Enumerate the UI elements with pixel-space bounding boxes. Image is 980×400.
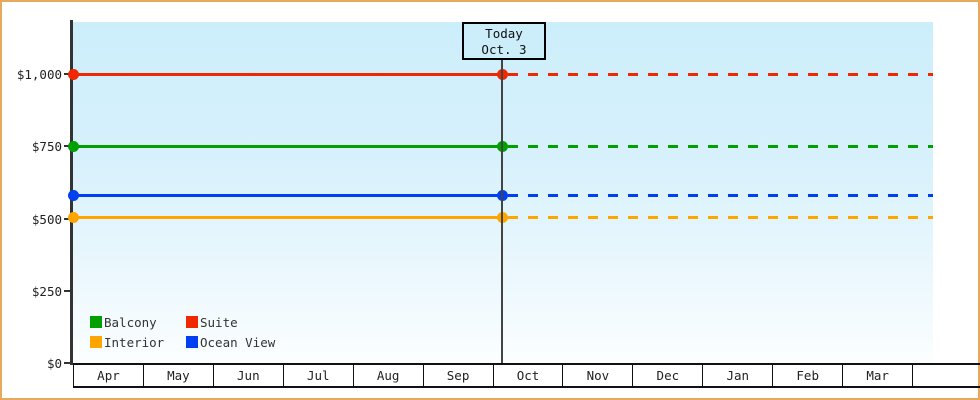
series-line-forecast [508,194,933,197]
x-axis-month-cell[interactable]: Jun [214,365,284,386]
legend-entry[interactable]: Balcony [90,315,186,330]
today-label: Today [464,26,544,42]
x-axis-month-cell-empty[interactable] [913,365,980,386]
series-start-dot[interactable] [68,190,79,201]
legend-label: Balcony [104,315,157,330]
legend-row: InteriorOcean View [90,332,275,352]
series-start-dot[interactable] [68,69,79,80]
legend-row: BalconySuite [90,312,275,332]
chart-legend: BalconySuiteInteriorOcean View [90,312,275,352]
legend-label: Ocean View [200,335,275,350]
legend-color-swatch-icon [90,336,102,348]
series-line-forecast [508,216,933,219]
legend-color-swatch-icon [186,336,198,348]
y-axis-label: $0 [0,356,62,371]
legend-label: Interior [104,335,164,350]
x-axis-month-cell[interactable]: May [144,365,214,386]
y-axis-tick [64,362,71,364]
y-axis-label: $250 [0,284,62,299]
series-line-forecast [508,145,933,148]
x-axis-month-cell[interactable]: Jan [703,365,773,386]
legend-entry[interactable]: Suite [186,315,238,330]
series-start-dot[interactable] [68,141,79,152]
x-axis-month-cell[interactable]: Feb [773,365,843,386]
y-axis-label-wrap: $500 [2,212,62,226]
x-axis-month-cell[interactable]: Aug [354,365,424,386]
y-axis-label-wrap: $0 [2,356,62,370]
y-axis-label: $750 [0,139,62,154]
x-axis-month-cell[interactable]: Nov [563,365,633,386]
x-axis-month-cell[interactable]: Mar [843,365,913,386]
y-axis-label: $500 [0,212,62,227]
legend-color-swatch-icon [186,316,198,328]
x-axis-month-row: AprMayJunJulAugSepOctNovDecJanFebMar [73,363,980,388]
series-line-actual [73,216,502,219]
today-vertical-line [501,60,503,363]
x-axis-month-cell[interactable]: Sep [424,365,494,386]
today-date: Oct. 3 [464,42,544,58]
series-start-dot[interactable] [68,212,79,223]
y-axis-label: $1,000 [0,67,62,82]
series-line-actual [73,73,502,76]
y-axis-label-wrap: $250 [2,284,62,298]
series-line-actual [73,194,502,197]
price-trend-chart: $1,000$750$500$250$0 Today Oct. 3 Balcon… [0,0,980,400]
x-axis-month-cell[interactable]: Dec [633,365,703,386]
y-axis-tick [64,290,71,292]
series-line-forecast [508,73,933,76]
legend-entry[interactable]: Interior [90,335,186,350]
x-axis-month-cell[interactable]: Jul [284,365,354,386]
series-line-actual [73,145,502,148]
y-axis-label-wrap: $1,000 [2,67,62,81]
legend-entry[interactable]: Ocean View [186,335,275,350]
legend-label: Suite [200,315,238,330]
x-axis-month-cell[interactable]: Oct [494,365,564,386]
today-annotation-box: Today Oct. 3 [462,22,546,60]
y-axis-label-wrap: $750 [2,139,62,153]
legend-color-swatch-icon [90,316,102,328]
x-axis-month-cell[interactable]: Apr [74,365,144,386]
